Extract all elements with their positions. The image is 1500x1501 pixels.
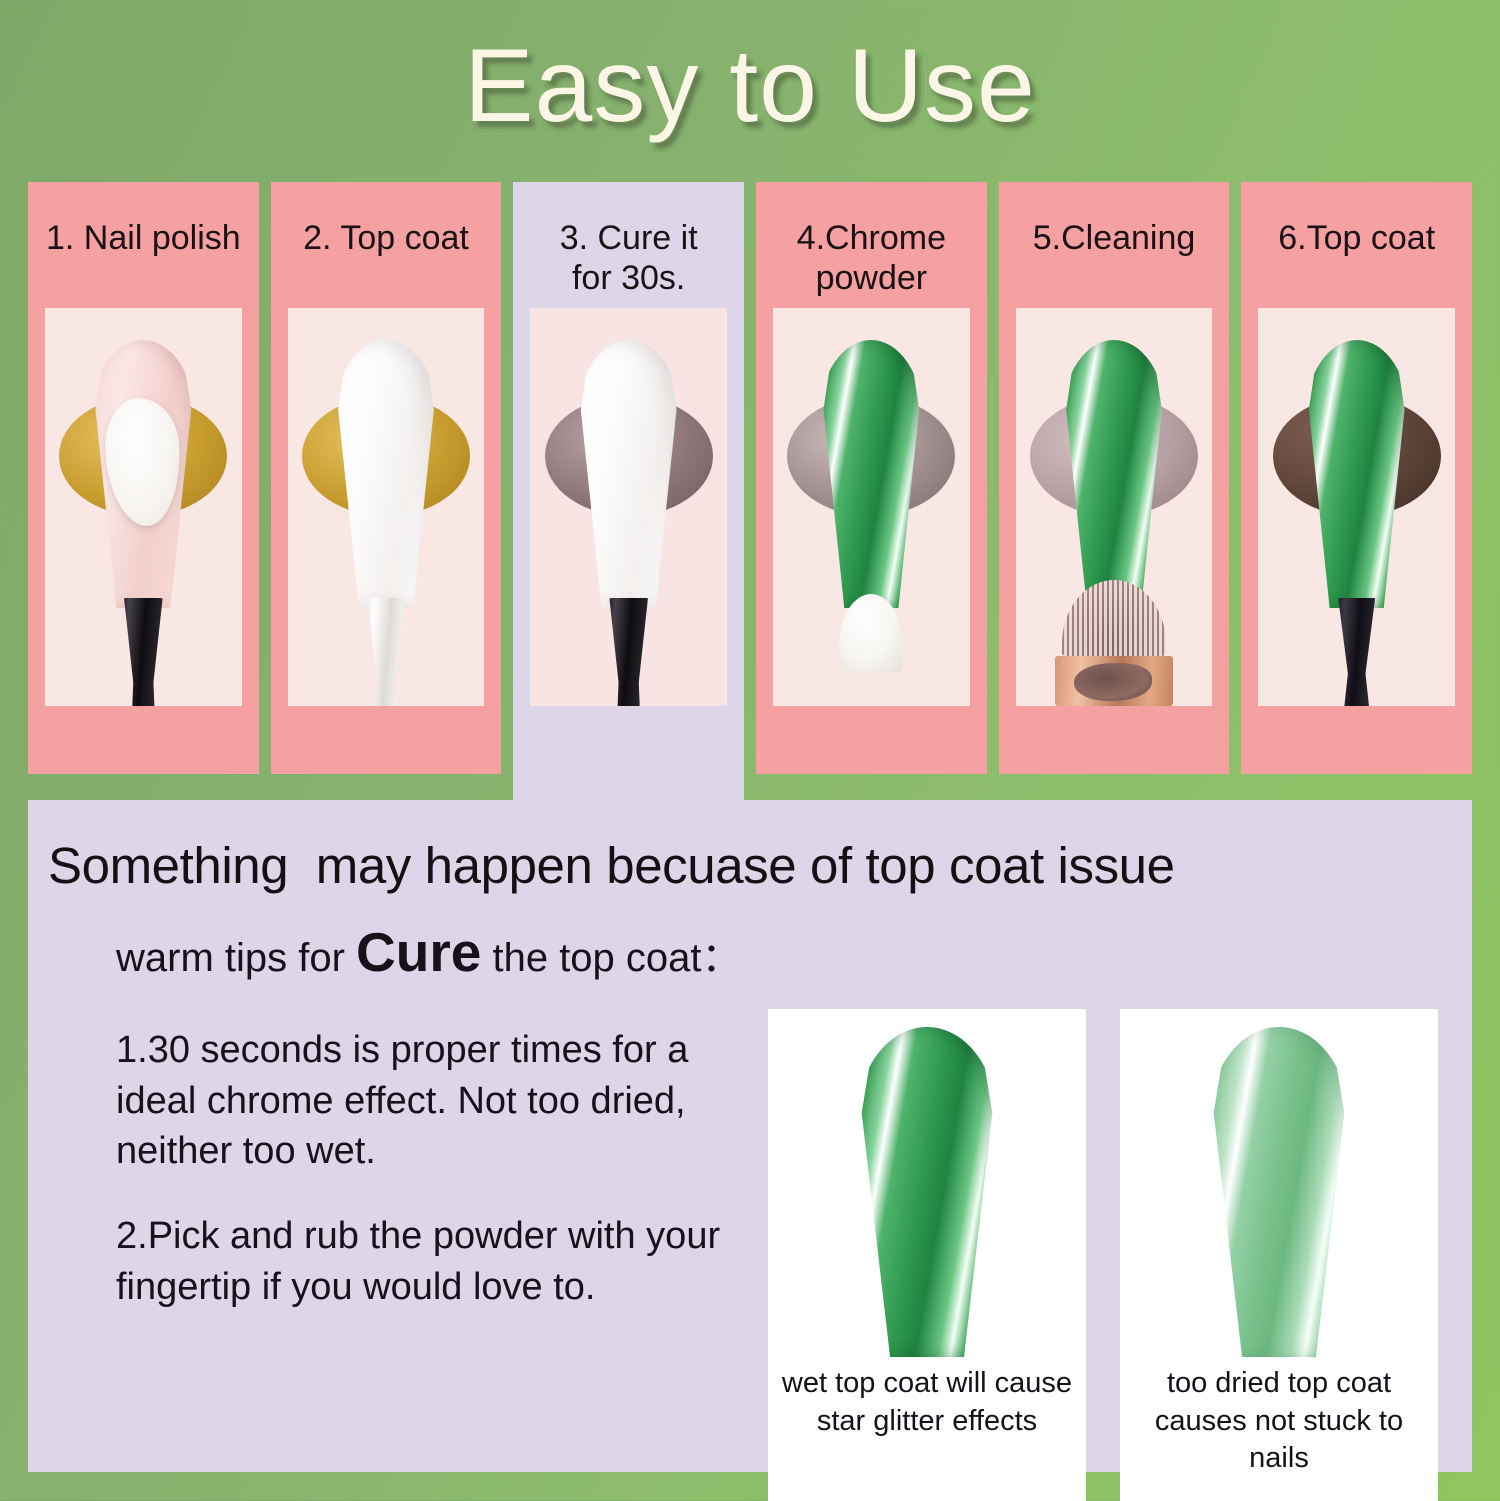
nail-tip-green-chrome xyxy=(1062,340,1166,608)
step-card-3-cure: 3. Cure it for 30s. xyxy=(513,182,744,800)
nail-tip-green-chrome xyxy=(1305,340,1409,608)
step-card-1-nail-polish: 1. Nail polish xyxy=(28,182,259,774)
step-photo-6 xyxy=(1258,308,1455,706)
sponge-tip xyxy=(839,594,903,672)
step-photo-5 xyxy=(1016,308,1213,706)
step-label-3: 3. Cure it for 30s. xyxy=(513,182,744,304)
example-card-dried-top-coat: too dried top coat causes not stuck to n… xyxy=(1120,1009,1438,1501)
brush-bristles xyxy=(1062,580,1166,656)
example-caption-wet: wet top coat will cause star glitter eff… xyxy=(768,1361,1086,1440)
step-photo-4 xyxy=(773,308,970,706)
step-photo-3 xyxy=(530,308,727,706)
nail-tip-white xyxy=(577,340,681,608)
step-label-6: 6.Top coat xyxy=(1241,182,1472,304)
step-card-4-chrome-powder: 4.Chrome powder xyxy=(756,182,987,774)
nail-tip-green-chrome xyxy=(819,340,923,608)
example-photo-dried xyxy=(1120,1009,1438,1361)
example-photo-wet xyxy=(768,1009,1086,1361)
tip-item-2: 2.Pick and rub the powder with your fing… xyxy=(116,1211,750,1312)
steps-strip: 1. Nail polish 2. Top coat 3. Cure it fo… xyxy=(28,182,1472,774)
nail-tip-green-chrome-pale xyxy=(1208,1027,1350,1357)
example-caption-dried: too dried top coat causes not stuck to n… xyxy=(1120,1361,1438,1478)
black-top-coat-brush-icon xyxy=(1335,598,1379,706)
tips-lead: warm tips for Cure the top coat： xyxy=(116,917,750,987)
nail-tip-green-chrome-bright xyxy=(856,1027,998,1357)
step-photo-2 xyxy=(288,308,485,706)
step-label-5: 5.Cleaning xyxy=(999,182,1230,304)
white-top-coat-brush-icon xyxy=(363,598,409,706)
step-card-5-cleaning: 5.Cleaning xyxy=(999,182,1230,774)
step-card-2-top-coat: 2. Top coat xyxy=(271,182,502,774)
example-card-wet-top-coat: wet top coat will cause star glitter eff… xyxy=(768,1009,1086,1501)
nail-tip-white xyxy=(334,340,438,608)
black-polish-brush-icon xyxy=(606,598,652,706)
white-sponge-applicator-icon xyxy=(839,594,903,706)
brush-ferrule xyxy=(1055,656,1173,706)
step-label-1: 1. Nail polish xyxy=(28,182,259,304)
fluffy-cleaning-brush-icon xyxy=(1054,580,1174,706)
step-label-4: 4.Chrome powder xyxy=(756,182,987,304)
black-polish-brush-icon xyxy=(120,598,166,706)
examples-column: wet top coat will cause star glitter eff… xyxy=(768,917,1438,1501)
step-card-6-top-coat: 6.Top coat xyxy=(1241,182,1472,774)
tips-lead-before: warm tips for xyxy=(116,936,356,980)
step-photo-1 xyxy=(45,308,242,706)
page-title: Easy to Use xyxy=(0,28,1500,144)
step-label-2: 2. Top coat xyxy=(271,182,502,304)
tips-lead-emphasis: Cure xyxy=(356,921,481,983)
tips-column: warm tips for Cure the top coat： 1.30 se… xyxy=(50,917,750,1501)
troubleshooting-panel: Something may happen becuase of top coat… xyxy=(28,800,1472,1472)
panel-body: warm tips for Cure the top coat： 1.30 se… xyxy=(28,895,1472,1501)
panel-heading: Something may happen becuase of top coat… xyxy=(28,800,1472,895)
tips-lead-after: the top coat： xyxy=(481,936,741,980)
tip-item-1: 1.30 seconds is proper times for a ideal… xyxy=(116,1025,750,1177)
